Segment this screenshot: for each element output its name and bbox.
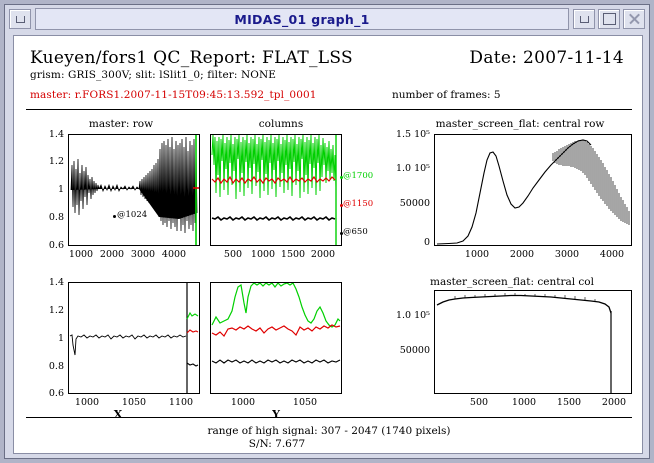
plot-columns-xtick-1000: 1000 [249, 249, 277, 260]
midas-window: MIDAS_01 graph_1 Kueyen/fors1 QC_Report:… [4, 4, 650, 459]
plot-master-row-annotation: @1024 [117, 210, 147, 220]
report-date: Date: 2007-11-14 [469, 48, 624, 68]
plot-master-row-data [69, 135, 199, 245]
plot-screen-flat-row-xtick-3000: 3000 [552, 249, 582, 260]
maximize-icon [603, 13, 616, 25]
plot-expansion-y-xtick-1000: 1000 [228, 397, 258, 408]
plot-master-row-annotation-dot [113, 215, 116, 218]
plot-master-row: master: row [28, 118, 208, 278]
plot-screen-flat-col-data [435, 291, 631, 393]
plot-screen-flat-col-xtick-1500: 1500 [554, 397, 584, 408]
plot-screen-flat-row: master_screen_flat: central row 1.5 10⁵ … [380, 118, 636, 278]
plot-screen-flat-col-ytick-100000: 1.0 10⁵ [374, 310, 430, 321]
plot-columns-xtick-500: 500 [219, 249, 247, 260]
plot-expansion-y-xtick-1050: 1050 [290, 397, 320, 408]
window-title: MIDAS_01 graph_1 [35, 8, 569, 30]
number-of-frames: number of frames: 5 [392, 89, 501, 101]
plot-master-row-ytick-0.6: 0.6 [30, 240, 64, 251]
minimize-button[interactable] [573, 9, 595, 29]
plot-columns-xtick-2000: 2000 [309, 249, 337, 260]
plot-screen-flat-row-xtick-1000: 1000 [462, 249, 492, 260]
report-heading: Kueyen/fors1 QC_Report: FLAT_LSS [30, 48, 353, 68]
plot-columns-data [211, 135, 341, 245]
plot-expansion-y-axis-label: Y [210, 408, 342, 421]
iconify-icon [16, 16, 25, 23]
plot-expansion-y-data [211, 283, 341, 393]
plot-expansion-x-xtick-1000: 1000 [72, 397, 102, 408]
plot-screen-flat-row-frame [434, 134, 632, 246]
instrument-setup: grism: GRIS_300V; slit: lSlit1_0; filter… [30, 69, 276, 81]
footer-range: range of high signal: 307 - 2047 (1740 p… [14, 425, 643, 437]
plot-master-row-xtick-2000: 2000 [97, 249, 127, 260]
report-canvas: Kueyen/fors1 QC_Report: FLAT_LSS Date: 2… [13, 35, 643, 454]
plot-screen-flat-row-ytick-150000: 1.5 10⁵ [374, 129, 430, 140]
plot-expansion-x-ytick-1.4: 1.4 [30, 277, 64, 288]
plot-master-row-ytick-1.4: 1.4 [30, 129, 64, 140]
plot-columns-ann-green: @1700 [343, 171, 373, 181]
plot-columns-ann-red: @1150 [343, 199, 373, 209]
plot-columns-frame [210, 134, 342, 246]
plot-columns-ann-black: @650 [343, 227, 368, 237]
window-titlebar: MIDAS_01 graph_1 [7, 7, 647, 31]
plot-screen-flat-col-xtick-500: 500 [464, 397, 494, 408]
plot-expansion-x: expansion in X 1.4 1.2 1 0.8 0.6 1000 10… [28, 282, 208, 422]
plot-screen-flat-col: master_screen_flat: central col 1.0 10⁵ … [380, 282, 636, 422]
plot-screen-flat-row-title: master_screen_flat: central row [410, 118, 630, 130]
plot-screen-flat-col-xtick-2000: 2000 [599, 397, 629, 408]
plot-expansion-y-frame [210, 282, 342, 394]
plot-screen-flat-col-title: master_screen_flat: central col [402, 276, 622, 288]
window-title-text: MIDAS_01 graph_1 [234, 12, 369, 27]
plot-expansion-x-axis-label: X [52, 408, 184, 421]
iconify-button[interactable] [9, 9, 31, 29]
plot-master-row-title: master: row [66, 118, 176, 130]
plot-screen-flat-row-ytick-100000: 1.0 10⁵ [374, 163, 430, 174]
plot-expansion-x-xtick-1050: 1050 [119, 397, 149, 408]
minimize-icon [580, 16, 589, 23]
plot-master-row-xtick-1000: 1000 [66, 249, 96, 260]
footer-sn-text: S/N: 7.677 [249, 438, 305, 450]
plot-screen-flat-col-frame [434, 290, 632, 394]
plot-expansion-x-ytick-0.6: 0.6 [30, 388, 64, 399]
plot-expansion-x-ytick-1.2: 1.2 [30, 305, 64, 316]
plot-expansion-x-xtick-1100: 1100 [166, 397, 196, 408]
plot-screen-flat-col-xtick-1000: 1000 [509, 397, 539, 408]
plot-screen-flat-row-xtick-4000: 4000 [597, 249, 627, 260]
plot-screen-flat-row-ytick-0: 0 [374, 237, 430, 248]
plot-columns: columns [210, 118, 375, 278]
plot-screen-flat-row-data [435, 135, 631, 245]
master-frame-name: master: r.FORS1.2007-11-15T09:45:13.592_… [30, 89, 317, 101]
plot-screen-flat-row-xtick-2000: 2000 [507, 249, 537, 260]
header-divider [26, 109, 632, 110]
window-controls [573, 9, 645, 29]
plot-screen-flat-col-ytick-50000: 50000 [374, 345, 430, 356]
plot-master-row-ytick-0.8: 0.8 [30, 212, 64, 223]
plot-master-row-xtick-3000: 3000 [128, 249, 158, 260]
plot-master-row-frame [68, 134, 200, 246]
plot-columns-xtick-1500: 1500 [279, 249, 307, 260]
plot-expansion-x-data [69, 283, 199, 393]
plot-master-row-xtick-4000: 4000 [159, 249, 189, 260]
plot-expansion-x-ytick-1: 1 [30, 333, 64, 344]
plot-master-row-ytick-1: 1 [30, 184, 64, 195]
plot-expansion-x-ytick-0.8: 0.8 [30, 361, 64, 372]
close-button[interactable] [623, 9, 645, 29]
close-icon [628, 13, 640, 25]
plot-master-row-ytick-1.2: 1.2 [30, 156, 64, 167]
plot-expansion-y: expansion in Y 1000 1050 Y [210, 282, 375, 422]
plot-expansion-x-frame [68, 282, 200, 394]
maximize-button[interactable] [598, 9, 620, 29]
plot-screen-flat-row-ytick-50000: 50000 [374, 198, 430, 209]
plot-columns-title: columns [226, 118, 336, 130]
footer-sn: S/N: 7.677 [14, 438, 643, 450]
